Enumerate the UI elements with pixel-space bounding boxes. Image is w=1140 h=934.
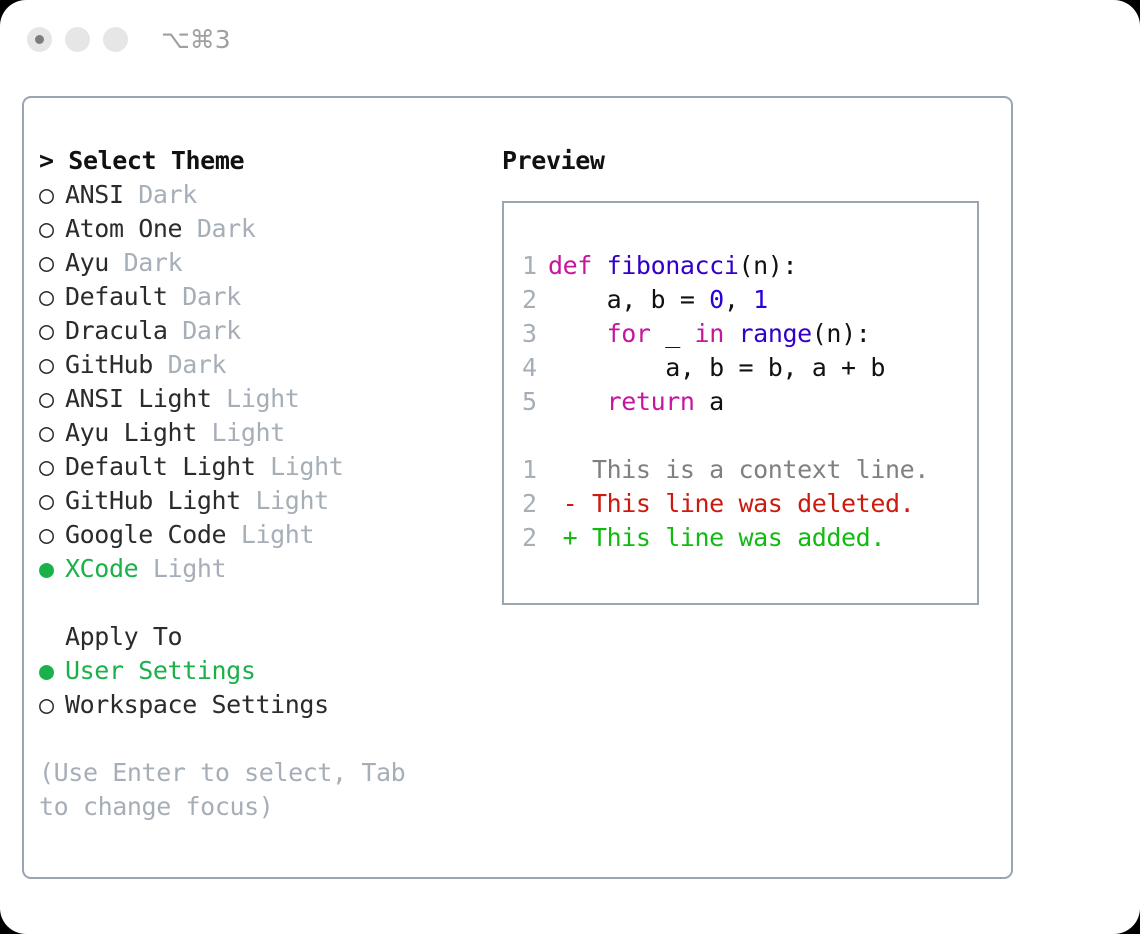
preview-code-area: 1def fibonacci(n):2 a, b = 0, 13 for _ i… [522,249,971,555]
radio-unselected-icon: ○ [39,314,65,348]
space [226,520,241,549]
theme-variant-label: Light [270,452,343,481]
theme-variant-label: Dark [182,316,241,345]
radio-selected-icon: ● [39,552,65,586]
apply-to-option[interactable]: ●User Settings [39,654,479,688]
line-number: 3 [522,317,548,351]
radio-selected-icon: ● [39,654,65,688]
code-line: 5 return a [522,385,971,419]
window-dot-2-icon[interactable] [65,27,90,52]
diff-line: 1 This is a context line. [522,453,971,487]
code-token: + This line was added. [548,523,885,552]
code-token: in [695,319,724,348]
radio-unselected-icon: ○ [39,280,65,314]
code-token: , [724,285,753,314]
keyboard-hint-text: (Use Enter to select, Tab to change focu… [39,756,449,824]
code-token: - This line was deleted. [548,489,914,518]
code-token [548,387,607,416]
apply-to-option[interactable]: ○Workspace Settings [39,688,479,722]
code-diff-separator [522,419,971,453]
theme-name-label: ANSI [65,180,124,209]
theme-list-item[interactable]: ○Default Light Light [39,450,479,484]
radio-unselected-icon: ○ [39,382,65,416]
radio-unselected-icon: ○ [39,688,65,722]
apply-to-header: Apply To [39,620,479,654]
code-token [548,319,607,348]
code-sample: 1def fibonacci(n):2 a, b = 0, 13 for _ i… [522,249,971,419]
app-window: ⌥⌘3 > Select Theme ○ANSI Dark○Atom One D… [0,0,1140,934]
code-token: a [695,387,724,416]
line-number: 2 [522,521,548,555]
code-line: 2 a, b = 0, 1 [522,283,971,317]
space [168,282,183,311]
keyboard-shortcut-label: ⌥⌘3 [161,25,231,54]
code-token: fibonacci [607,251,739,280]
space [255,452,270,481]
radio-unselected-icon: ○ [39,348,65,382]
line-number: 5 [522,385,548,419]
radio-unselected-icon: ○ [39,246,65,280]
main-panel: > Select Theme ○ANSI Dark○Atom One Dark○… [22,96,1013,879]
preview-title: Preview [502,144,1002,178]
code-line: 1def fibonacci(n): [522,249,971,283]
code-token: for [607,319,651,348]
diff-sample: 1 This is a context line.2 - This line w… [522,453,971,555]
theme-name-label: Default Light [65,452,255,481]
theme-list-item[interactable]: ○Default Dark [39,280,479,314]
radio-unselected-icon: ○ [39,484,65,518]
apply-to-list[interactable]: ●User Settings○Workspace Settings [39,654,479,722]
code-token: This is a context line. [548,455,929,484]
theme-list-item[interactable]: ○Atom One Dark [39,212,479,246]
diff-line: 2 - This line was deleted. [522,487,971,521]
code-token: range [739,319,812,348]
code-token: def [548,251,607,280]
code-line: 3 for _ in range(n): [522,317,971,351]
theme-variant-label: Light [255,486,328,515]
window-titlebar: ⌥⌘3 [0,0,1140,78]
theme-list-item[interactable]: ○Ayu Dark [39,246,479,280]
space [109,248,124,277]
theme-variant-label: Dark [138,180,197,209]
space [153,350,168,379]
preview-column: Preview 1def fibonacci(n):2 a, b = 0, 13… [502,144,1002,605]
theme-list-item[interactable]: ●XCode Light [39,552,479,586]
record-dot-icon[interactable] [27,27,52,52]
theme-variant-label: Dark [182,282,241,311]
theme-variant-label: Dark [197,214,256,243]
code-token: (n): [738,251,797,280]
theme-name-label: ANSI Light [65,384,212,413]
theme-list-item[interactable]: ○GitHub Dark [39,348,479,382]
theme-list-item[interactable]: ○GitHub Light Light [39,484,479,518]
line-number: 1 [522,249,548,283]
code-token: return [607,387,695,416]
apply-to-label: User Settings [65,656,255,685]
space [241,486,256,515]
theme-list-item[interactable]: ○ANSI Dark [39,178,479,212]
theme-variant-label: Light [212,418,285,447]
space [138,554,153,583]
theme-name-label: Default [65,282,168,311]
theme-name-label: Atom One [65,214,182,243]
code-token: a, b = [548,285,709,314]
line-number: 1 [522,453,548,487]
select-theme-header: > Select Theme [39,144,479,178]
space [124,180,139,209]
spacer [39,586,479,620]
theme-selector-column: > Select Theme ○ANSI Dark○Atom One Dark○… [39,144,479,824]
code-token: 0 [709,285,724,314]
window-dot-3-icon[interactable] [103,27,128,52]
theme-variant-label: Light [241,520,314,549]
theme-name-label: XCode [65,554,138,583]
theme-variant-label: Dark [168,350,227,379]
code-token: a, b = b, a + b [548,353,885,382]
preview-box: 1def fibonacci(n):2 a, b = 0, 13 for _ i… [502,201,979,605]
theme-list-item[interactable]: ○Dracula Dark [39,314,479,348]
theme-variant-label: Light [226,384,299,413]
radio-unselected-icon: ○ [39,178,65,212]
window-controls [27,27,128,52]
code-token [724,319,739,348]
theme-name-label: Google Code [65,520,226,549]
theme-list[interactable]: ○ANSI Dark○Atom One Dark○Ayu Dark○Defaul… [39,178,479,586]
code-token: _ [651,319,695,348]
space [182,214,197,243]
theme-name-label: GitHub Light [65,486,241,515]
theme-name-label: GitHub [65,350,153,379]
theme-name-label: Ayu [65,248,109,277]
theme-variant-label: Light [153,554,226,583]
space [197,418,212,447]
theme-variant-label: Dark [124,248,183,277]
record-dot-inner-icon [35,35,44,44]
diff-line: 2 + This line was added. [522,521,971,555]
space [212,384,227,413]
radio-unselected-icon: ○ [39,518,65,552]
theme-list-item[interactable]: ○ANSI Light Light [39,382,479,416]
radio-unselected-icon: ○ [39,416,65,450]
apply-to-label: Workspace Settings [65,690,329,719]
code-line: 4 a, b = b, a + b [522,351,971,385]
line-number: 4 [522,351,548,385]
theme-list-item[interactable]: ○Google Code Light [39,518,479,552]
theme-list-item[interactable]: ○Ayu Light Light [39,416,479,450]
code-token: (n): [812,319,871,348]
theme-name-label: Dracula [65,316,168,345]
radio-unselected-icon: ○ [39,450,65,484]
line-number: 2 [522,283,548,317]
space [168,316,183,345]
line-number: 2 [522,487,548,521]
radio-unselected-icon: ○ [39,212,65,246]
theme-name-label: Ayu Light [65,418,197,447]
code-token: 1 [753,285,768,314]
